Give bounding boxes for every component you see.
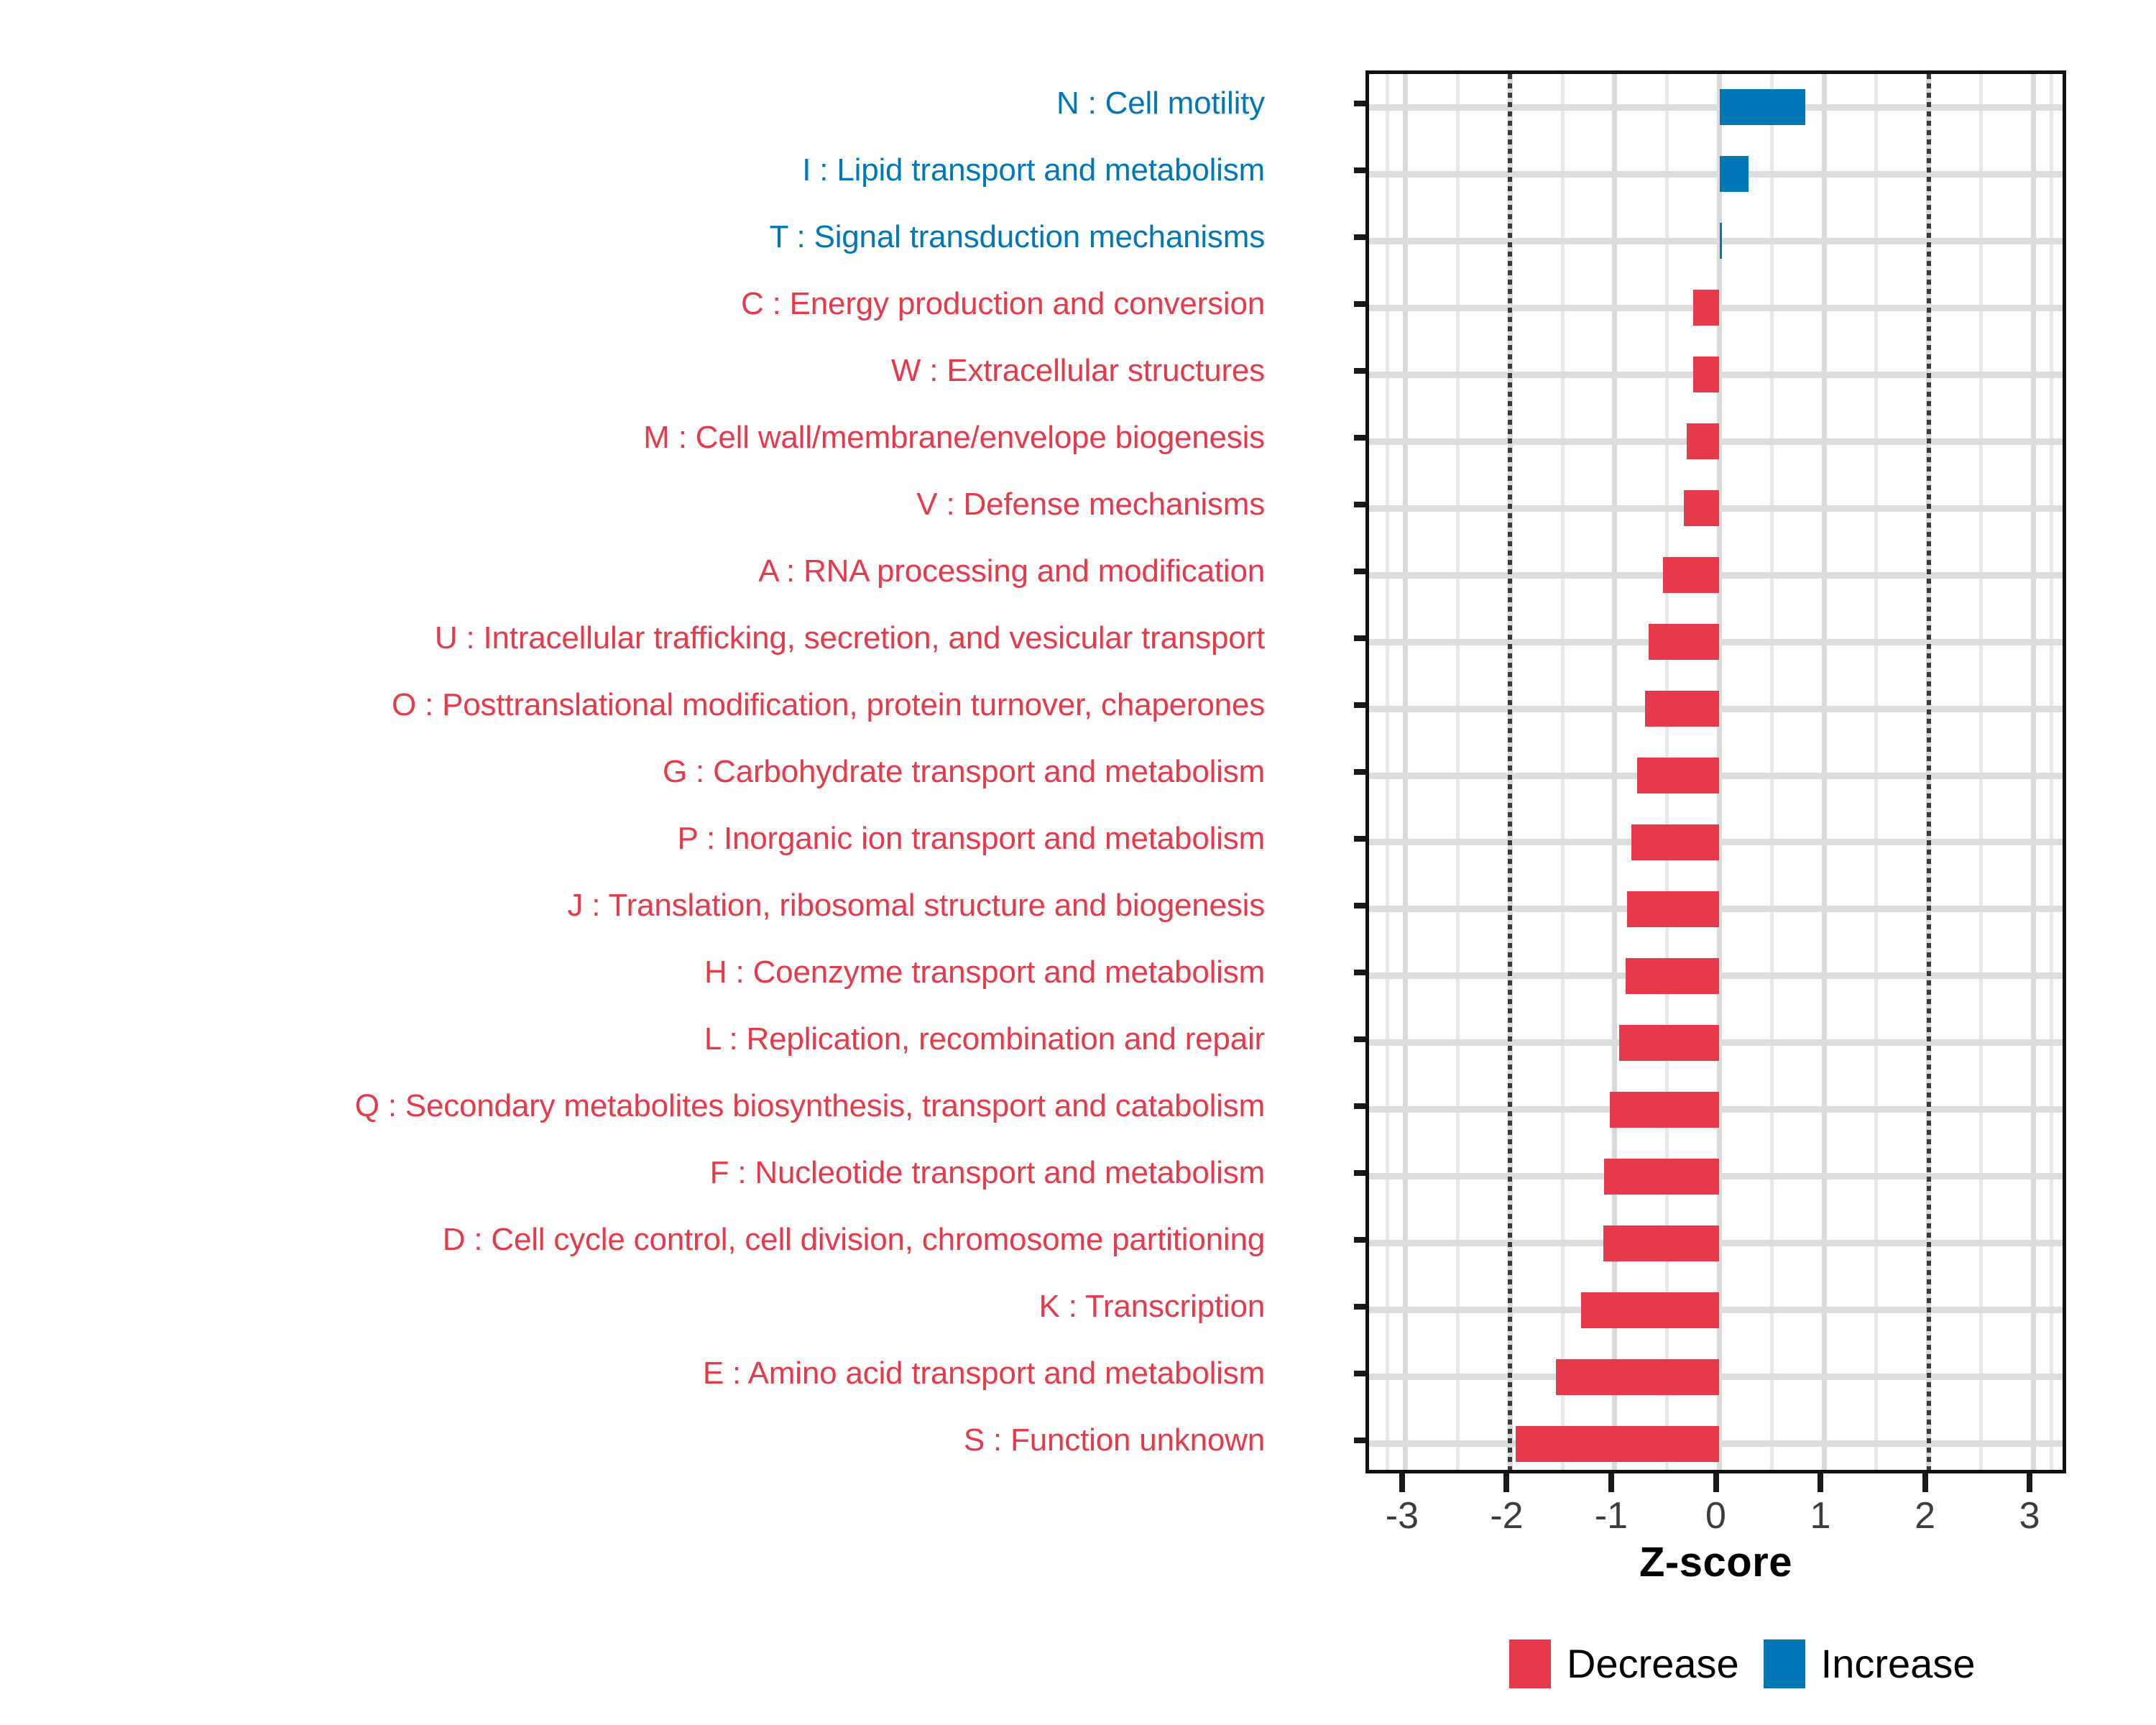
horizontal-gridline — [1369, 171, 2063, 178]
legend-swatch — [1509, 1639, 1551, 1688]
x-axis-tick-label: -1 — [1595, 1495, 1628, 1537]
y-axis-label: A : RNA processing and modification — [758, 556, 1265, 587]
y-axis-label: H : Coenzyme transport and metabolism — [704, 957, 1265, 988]
legend-label: Decrease — [1567, 1642, 1739, 1685]
y-axis-tick — [1354, 1237, 1365, 1243]
y-axis-tick — [1354, 769, 1365, 775]
bar[interactable] — [1603, 1225, 1720, 1261]
bar[interactable] — [1687, 423, 1719, 459]
bar[interactable] — [1693, 356, 1719, 392]
bar[interactable] — [1581, 1292, 1719, 1328]
y-axis-tick — [1354, 635, 1365, 641]
x-axis-tick — [1399, 1473, 1405, 1492]
x-axis-tick — [1503, 1473, 1509, 1492]
bar[interactable] — [1663, 557, 1720, 593]
bar[interactable] — [1693, 290, 1719, 326]
legend-swatch — [1764, 1639, 1805, 1688]
bar[interactable] — [1631, 824, 1719, 860]
legend-item[interactable]: Increase — [1764, 1639, 1976, 1688]
bar[interactable] — [1645, 691, 1719, 727]
legend: DecreaseIncrease — [1509, 1632, 1975, 1696]
reference-line — [1508, 74, 1512, 1470]
bar[interactable] — [1649, 624, 1720, 660]
y-axis-tick — [1354, 1371, 1365, 1376]
plot-panel — [1365, 70, 2066, 1473]
bar[interactable] — [1619, 1025, 1720, 1061]
y-axis-label: W : Extracellular structures — [891, 355, 1265, 387]
y-axis-tick — [1354, 702, 1365, 708]
y-axis-tick — [1354, 1103, 1365, 1109]
bar[interactable] — [1604, 1159, 1719, 1195]
y-axis-tick — [1354, 301, 1365, 307]
x-axis-tick-label: 0 — [1705, 1495, 1726, 1537]
bar[interactable] — [1720, 156, 1749, 192]
legend-label: Increase — [1821, 1642, 1976, 1685]
y-axis-label: P : Inorganic ion transport and metaboli… — [678, 823, 1265, 855]
cog-zscore-bar-chart: N : Cell motilityI : Lipid transport and… — [0, 0, 2156, 1725]
y-axis-tick — [1354, 1304, 1365, 1310]
y-axis-label: K : Transcription — [1038, 1291, 1265, 1322]
y-axis-label: L : Replication, recombination and repai… — [704, 1023, 1265, 1055]
plot-area — [1365, 70, 2066, 1473]
y-axis-tick — [1354, 368, 1365, 374]
x-axis-tick — [1713, 1473, 1719, 1492]
y-axis-label: F : Nucleotide transport and metabolism — [710, 1157, 1265, 1189]
y-axis-label: C : Energy production and conversion — [741, 288, 1265, 320]
y-axis-tick — [1354, 502, 1365, 507]
y-axis-tick — [1354, 167, 1365, 173]
bar[interactable] — [1720, 223, 1722, 259]
y-axis-tick — [1354, 435, 1365, 441]
y-axis-label: Q : Secondary metabolites biosynthesis, … — [355, 1090, 1265, 1122]
y-axis-label: M : Cell wall/membrane/envelope biogenes… — [643, 422, 1265, 454]
reference-line — [1927, 74, 1931, 1470]
x-axis-tick — [1922, 1473, 1928, 1492]
x-axis-title: Z-score — [1365, 1538, 2066, 1586]
y-axis-tick — [1354, 903, 1365, 908]
y-axis-tick — [1354, 1036, 1365, 1042]
x-axis-tick-label: 3 — [2019, 1495, 2040, 1537]
x-axis-tick — [2027, 1473, 2032, 1492]
bar[interactable] — [1627, 891, 1719, 927]
y-axis-label: T : Signal transduction mechanisms — [770, 221, 1265, 253]
bar[interactable] — [1626, 958, 1720, 994]
x-axis-tick — [1608, 1473, 1614, 1492]
bar[interactable] — [1684, 490, 1719, 526]
y-axis-label: V : Defense mechanisms — [916, 489, 1265, 520]
y-axis-label: J : Translation, ribosomal structure and… — [567, 890, 1265, 921]
x-axis-tick-label: -2 — [1490, 1495, 1523, 1537]
y-axis-label: D : Cell cycle control, cell division, c… — [443, 1224, 1265, 1256]
y-axis-label: S : Function unknown — [964, 1425, 1265, 1456]
x-axis-tick-label: 2 — [1915, 1495, 1935, 1537]
bar[interactable] — [1556, 1359, 1719, 1395]
y-axis-tick — [1354, 970, 1365, 975]
x-axis-tick — [1818, 1473, 1823, 1492]
y-axis-label: N : Cell motility — [1056, 88, 1265, 119]
horizontal-gridline — [1369, 238, 2063, 244]
y-axis-label: U : Intracellular trafficking, secretion… — [435, 622, 1265, 654]
x-axis-tick-label: -3 — [1386, 1495, 1419, 1537]
x-axis-tick-label: 1 — [1810, 1495, 1831, 1537]
y-axis-label: G : Carbohydrate transport and metabolis… — [663, 756, 1265, 788]
bar[interactable] — [1516, 1426, 1720, 1462]
y-axis-label: I : Lipid transport and metabolism — [802, 155, 1265, 186]
y-axis-category-labels: N : Cell motilityI : Lipid transport and… — [0, 70, 1357, 1473]
y-axis-tick — [1354, 101, 1365, 106]
bar[interactable] — [1720, 89, 1805, 125]
y-axis-label: O : Posttranslational modification, prot… — [392, 689, 1265, 721]
y-axis-tick — [1354, 836, 1365, 842]
bar[interactable] — [1637, 758, 1720, 793]
y-axis-tick — [1354, 1437, 1365, 1443]
y-axis-tick — [1354, 569, 1365, 574]
bar[interactable] — [1610, 1092, 1720, 1128]
legend-item[interactable]: Decrease — [1509, 1639, 1739, 1688]
horizontal-gridline — [1369, 104, 2063, 111]
y-axis-tick — [1354, 234, 1365, 240]
y-axis-label: E : Amino acid transport and metabolism — [703, 1358, 1265, 1389]
y-axis-tick — [1354, 1170, 1365, 1176]
